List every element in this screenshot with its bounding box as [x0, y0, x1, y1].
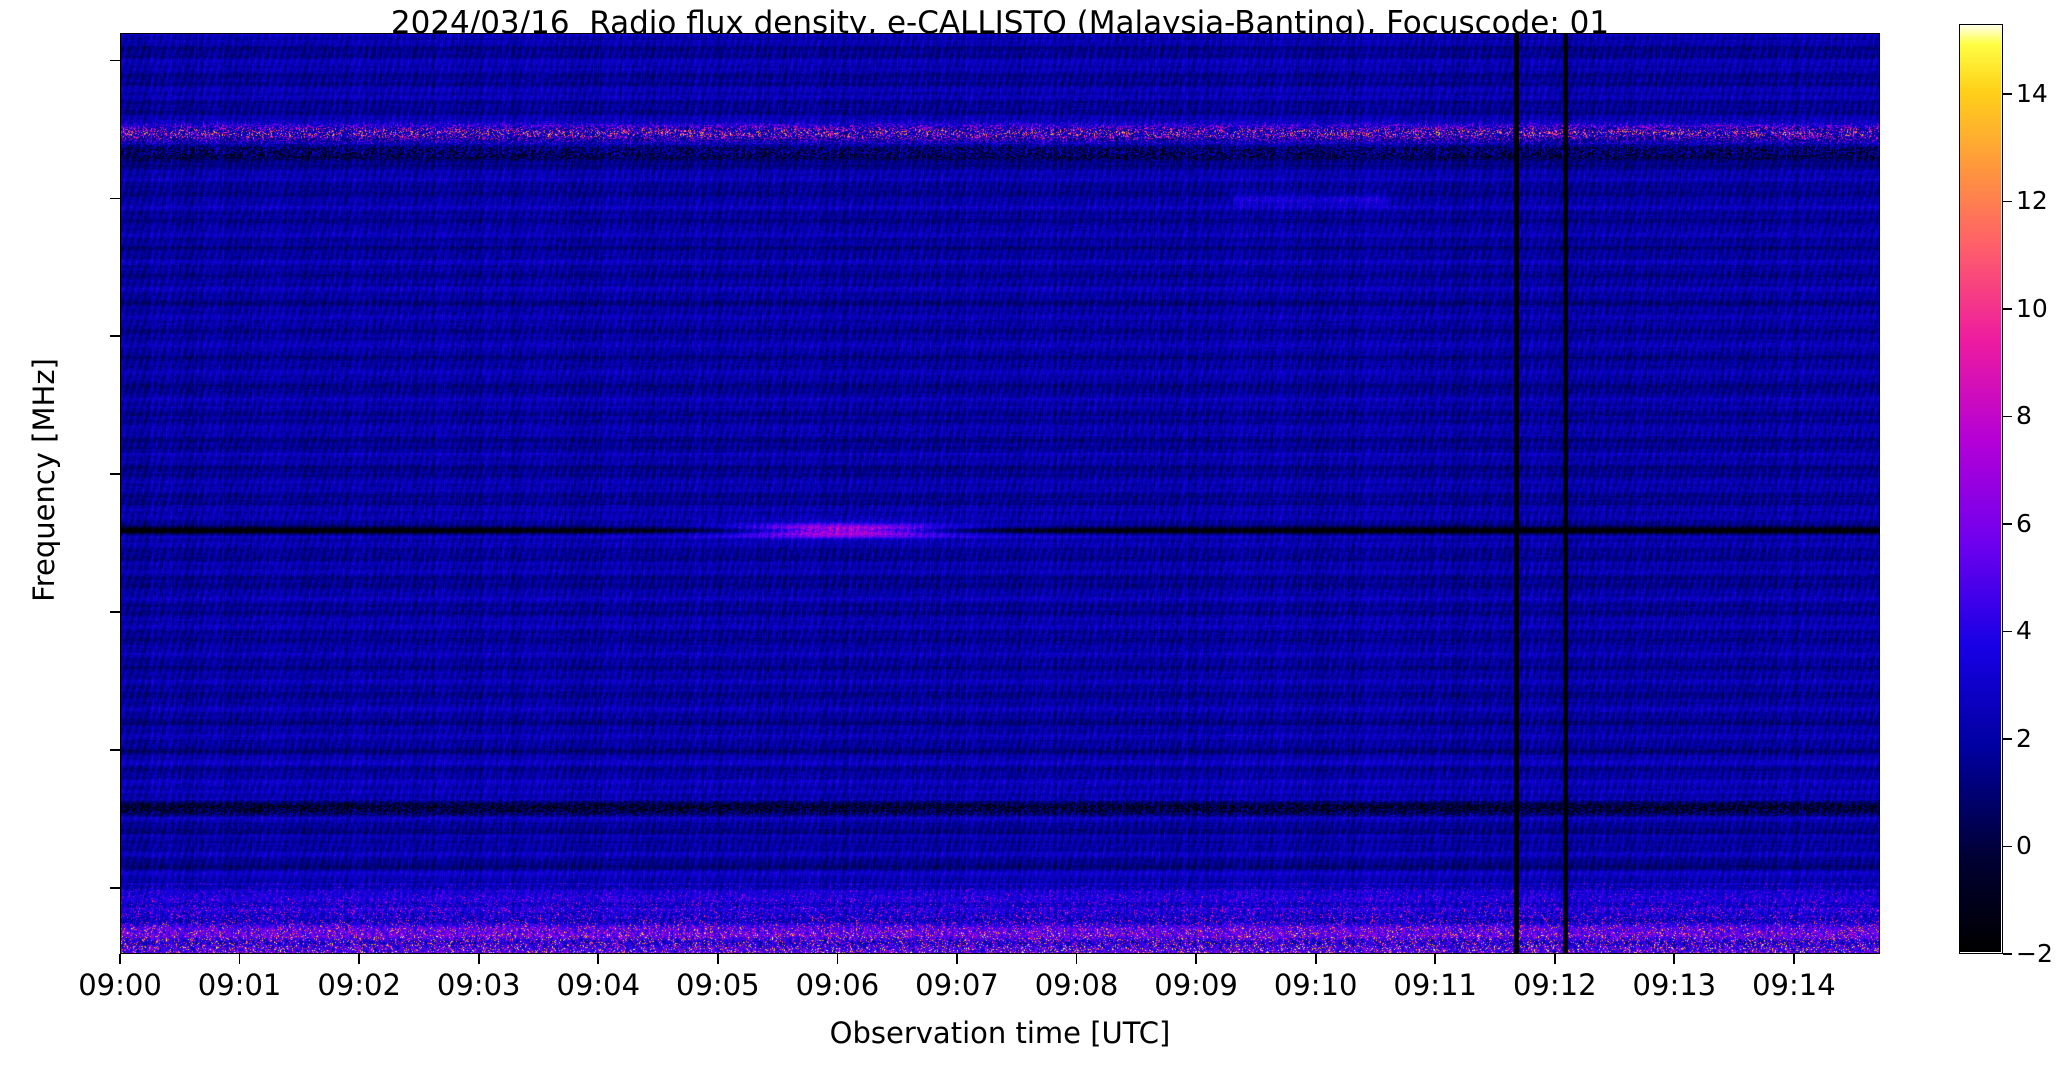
x-tick-mark	[239, 954, 241, 964]
x-tick-mark	[478, 954, 480, 964]
colorbar-gradient	[1960, 25, 2001, 952]
x-tick-mark	[597, 954, 599, 964]
colorbar-tick-mark	[2003, 953, 2012, 955]
y-tick-mark	[110, 60, 120, 62]
colorbar-tick-mark	[2003, 201, 2012, 203]
x-tick-mark	[837, 954, 839, 964]
x-axis-label: Observation time [UTC]	[120, 1016, 1880, 1050]
x-tick-mark	[119, 954, 121, 964]
y-tick-mark	[110, 198, 120, 200]
colorbar-tick-label: 0	[2016, 829, 2066, 863]
colorbar-tick-mark	[2003, 738, 2012, 740]
colorbar-tick-mark	[2003, 416, 2012, 418]
spectrogram-plot-area[interactable]	[120, 33, 1880, 954]
x-tick-mark	[1076, 954, 1078, 964]
colorbar-tick-label: 6	[2016, 507, 2066, 541]
x-tick-mark	[1434, 954, 1436, 964]
y-tick-mark	[110, 749, 120, 751]
y-tick-mark	[110, 473, 120, 475]
y-tick-mark	[110, 887, 120, 889]
x-tick-label: 09:14	[1674, 967, 1914, 1003]
colorbar-tick-mark	[2003, 631, 2012, 633]
colorbar-tick-label: 10	[2016, 292, 2066, 326]
colorbar-tick-label: 4	[2016, 614, 2066, 648]
y-tick-mark	[110, 611, 120, 613]
x-tick-mark	[1315, 954, 1317, 964]
x-tick-mark	[1793, 954, 1795, 964]
x-tick-mark	[717, 954, 719, 964]
colorbar-tick-mark	[2003, 308, 2012, 310]
spectrogram-figure: 2024/03/16 Radio flux density, e-CALLIST…	[0, 0, 2066, 1067]
colorbar-tick-label: 12	[2016, 184, 2066, 218]
colorbar[interactable]	[1959, 24, 2003, 954]
x-tick-mark	[956, 954, 958, 964]
y-tick-mark	[110, 335, 120, 337]
colorbar-tick-label: 14	[2016, 77, 2066, 111]
x-tick-mark	[1554, 954, 1556, 964]
colorbar-tick-mark	[2003, 846, 2012, 848]
colorbar-tick-label: −2	[2016, 937, 2066, 971]
colorbar-tick-label: 8	[2016, 399, 2066, 433]
spectrogram-image	[121, 34, 1880, 954]
colorbar-tick-mark	[2003, 523, 2012, 525]
x-tick-mark	[1673, 954, 1675, 964]
y-axis-label: Frequency [MHz]	[27, 200, 61, 760]
x-tick-mark	[1195, 954, 1197, 964]
colorbar-tick-label: 2	[2016, 722, 2066, 756]
x-tick-mark	[358, 954, 360, 964]
colorbar-tick-mark	[2003, 93, 2012, 95]
